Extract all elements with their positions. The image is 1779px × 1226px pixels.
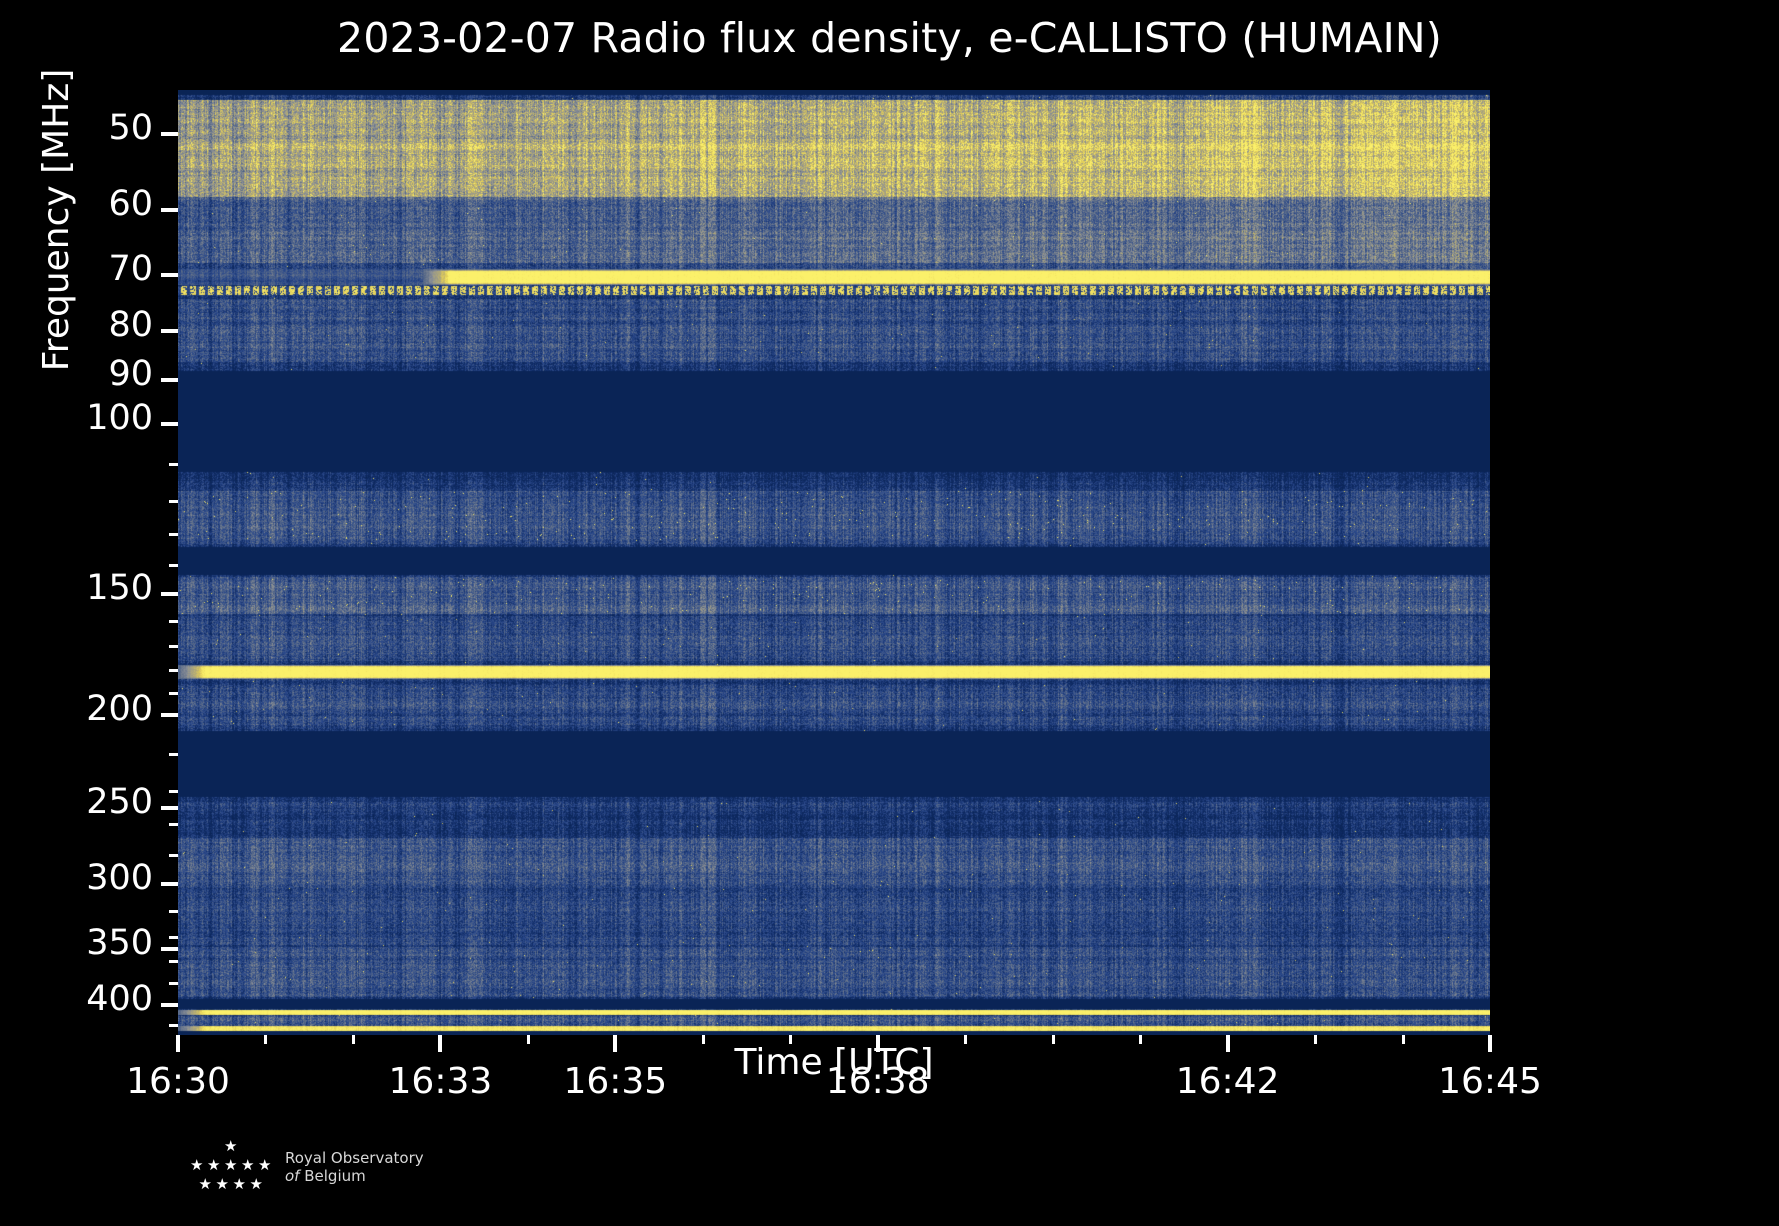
- y-tick-mark: [169, 854, 178, 857]
- y-tick-mark: [169, 982, 178, 985]
- y-tick-mark: [169, 692, 178, 695]
- y-tick-label: 250: [86, 782, 153, 822]
- stars-icon: ★★★★★★★★★★: [176, 1139, 272, 1195]
- logo-of: of: [285, 1167, 299, 1185]
- y-tick-mark: [161, 273, 178, 277]
- y-tick-mark: [169, 620, 178, 623]
- y-tick-mark: [169, 960, 178, 963]
- logo-country: Belgium: [304, 1167, 366, 1185]
- y-tick-mark: [161, 713, 178, 717]
- star-icon: ★: [199, 1177, 212, 1192]
- y-tick-mark: [169, 669, 178, 672]
- y-tick-mark: [161, 132, 178, 136]
- y-tick-mark: [161, 592, 178, 596]
- y-tick-mark: [169, 533, 178, 536]
- y-tick-mark: [169, 500, 178, 503]
- y-tick-label: 90: [108, 354, 153, 394]
- y-tick-mark: [169, 645, 178, 648]
- y-tick-label: 350: [86, 923, 153, 963]
- y-tick-label: 200: [86, 689, 153, 729]
- y-tick-mark: [161, 208, 178, 212]
- star-icon: ★: [250, 1177, 263, 1192]
- y-tick-mark: [169, 463, 178, 466]
- star-icon: ★: [241, 1158, 254, 1173]
- logo-line-2: of Belgium: [285, 1167, 424, 1185]
- y-tick-label: 100: [86, 398, 153, 438]
- logo-line-1: Royal Observatory: [285, 1149, 424, 1167]
- y-tick-label: 400: [86, 979, 153, 1019]
- royal-observatory-logo: ★★★★★★★★★★ Royal Observatory of Belgium: [176, 1139, 424, 1195]
- y-tick-mark: [161, 947, 178, 951]
- star-icon: ★: [190, 1158, 203, 1173]
- y-tick-mark: [169, 936, 178, 939]
- y-tick-label: 50: [108, 108, 153, 148]
- x-axis-label: Time [UTC]: [178, 1042, 1490, 1083]
- page-title: 2023-02-07 Radio flux density, e-CALLIST…: [0, 14, 1779, 62]
- spectrogram-image: [178, 90, 1490, 1035]
- y-axis-label: Frequency [MHz]: [36, 20, 77, 420]
- star-icon: ★: [224, 1139, 237, 1154]
- y-tick-mark: [169, 753, 178, 756]
- y-tick-mark: [161, 329, 178, 333]
- y-tick-mark: [161, 378, 178, 382]
- logo-text: Royal Observatory of Belgium: [285, 1149, 424, 1186]
- figure-root: 2023-02-07 Radio flux density, e-CALLIST…: [0, 0, 1779, 1226]
- y-tick-mark: [169, 910, 178, 913]
- y-tick-mark: [169, 564, 178, 567]
- y-tick-mark: [161, 882, 178, 886]
- y-tick-mark: [169, 790, 178, 793]
- y-tick-mark: [161, 422, 178, 426]
- spectrogram-plot-area: Frequency [MHz] 506070809010015020025030…: [178, 90, 1490, 1035]
- star-icon: ★: [207, 1158, 220, 1173]
- y-tick-mark: [161, 1003, 178, 1007]
- y-tick-label: 150: [86, 568, 153, 608]
- y-tick-mark: [161, 806, 178, 810]
- star-icon: ★: [216, 1177, 229, 1192]
- y-tick-label: 300: [86, 858, 153, 898]
- star-icon: ★: [233, 1177, 246, 1192]
- star-icon: ★: [224, 1158, 237, 1173]
- y-tick-mark: [169, 823, 178, 826]
- y-tick-label: 60: [108, 184, 153, 224]
- y-tick-label: 70: [108, 249, 153, 289]
- star-icon: ★: [258, 1158, 271, 1173]
- y-tick-label: 80: [108, 305, 153, 345]
- y-tick-mark: [169, 1024, 178, 1027]
